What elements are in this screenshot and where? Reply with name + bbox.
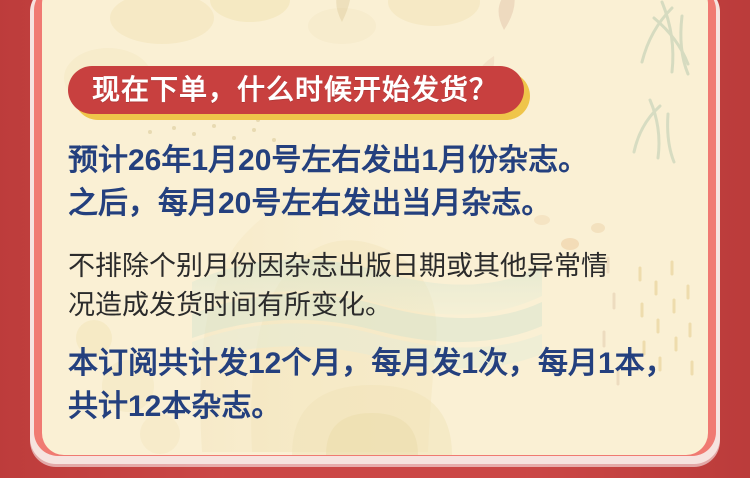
- paragraph-shipping-schedule: 预计26年1月20号左右发出1月份杂志。 之后，每月20号左右发出当月杂志。: [68, 140, 680, 225]
- paragraph-shipping-disclaimer: 不排除个别月份因杂志出版日期或其他异常情 况造成发货时间有所变化。: [68, 247, 680, 325]
- paragraph-subscription-summary: 本订阅共计发12个月，每月发1次，每月1本， 共计12本杂志。: [68, 343, 680, 428]
- badge-label: 现在下单，什么时候开始发货？: [68, 66, 524, 114]
- promo-poster: 现在下单，什么时候开始发货？ 预计26年1月20号左右发出1月份杂志。 之后，每…: [0, 0, 750, 478]
- paragraph-spacer-1: [68, 225, 680, 247]
- section-badge: 现在下单，什么时候开始发货？: [68, 66, 524, 114]
- info-card: 现在下单，什么时候开始发货？ 预计26年1月20号左右发出1月份杂志。 之后，每…: [42, 0, 708, 455]
- paragraph-spacer-2: [68, 325, 680, 343]
- body-copy: 预计26年1月20号左右发出1月份杂志。 之后，每月20号左右发出当月杂志。 不…: [68, 140, 680, 429]
